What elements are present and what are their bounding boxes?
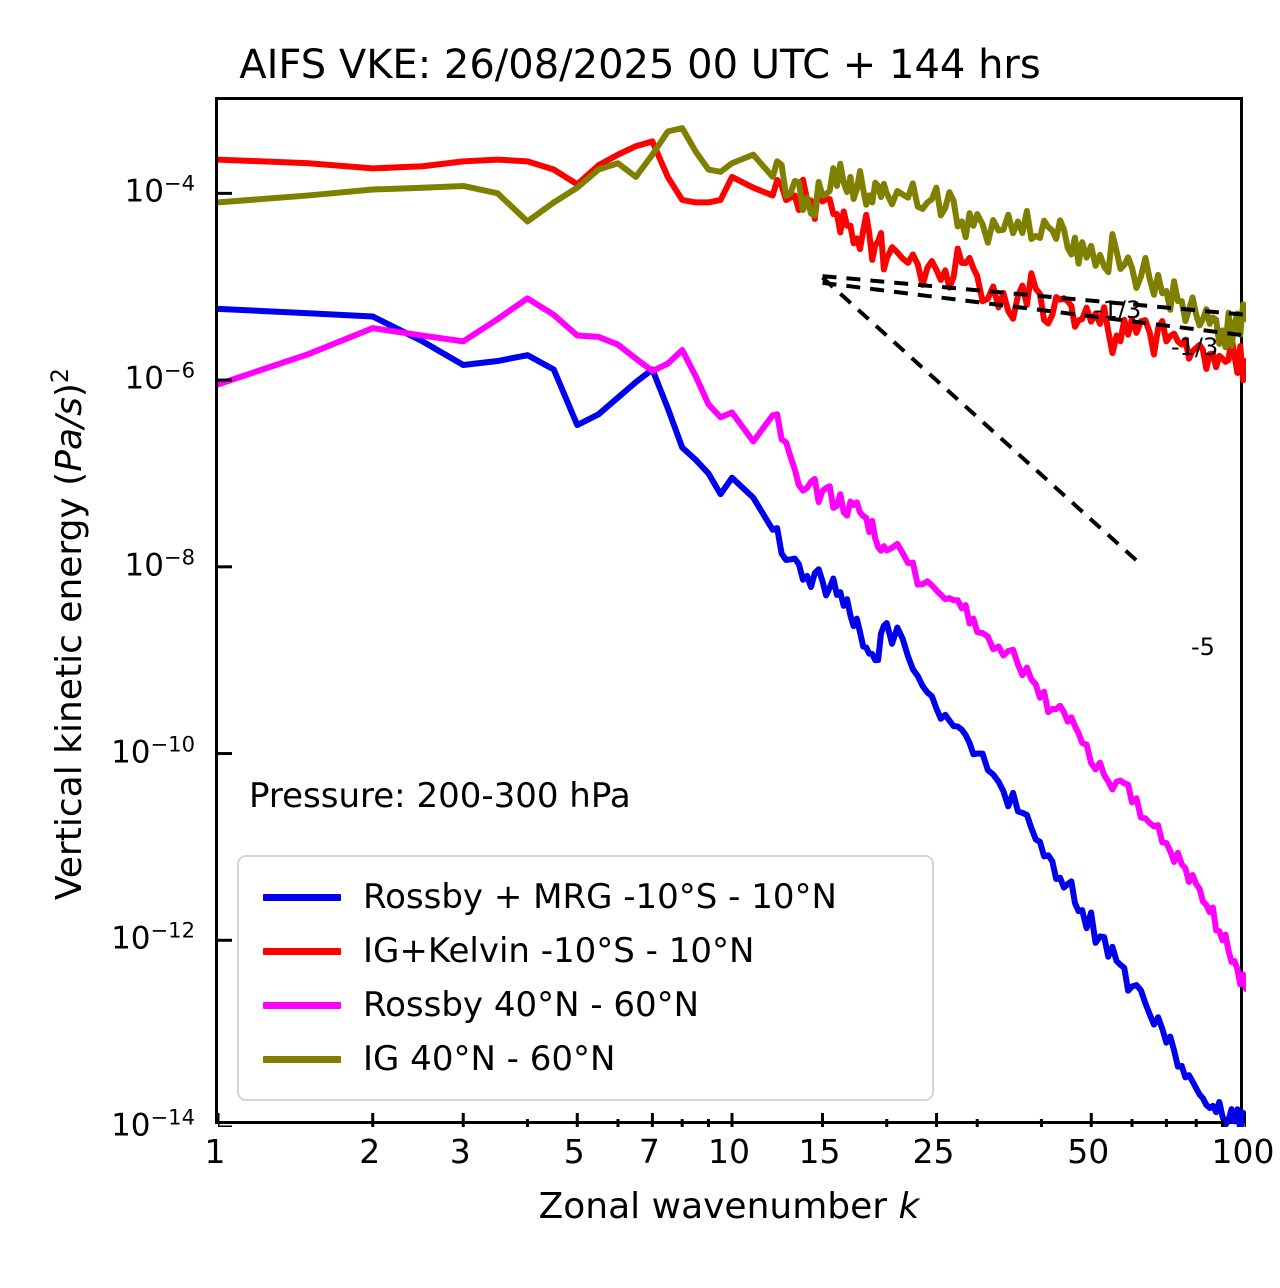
slope-label-steep: -5 — [1191, 633, 1215, 661]
y-axis-label: Vertical kinetic energy (Pa/s)2 — [46, 224, 90, 1044]
x-tick-label: 50 — [1067, 1132, 1109, 1171]
legend-label: Rossby 40°N - 60°N — [363, 988, 699, 1022]
y-tick-label: 10−12 — [111, 918, 195, 957]
x-tick-label: 10 — [708, 1132, 750, 1171]
chart-title: AIFS VKE: 26/08/2025 00 UTC + 144 hrs — [0, 42, 1280, 88]
legend-color-swatch — [263, 894, 341, 901]
legend-item[interactable]: IG 40°N - 60°N — [239, 1032, 932, 1086]
y-tick-label: 10−6 — [124, 357, 195, 396]
pressure-annotation: Pressure: 200-300 hPa — [249, 776, 631, 816]
legend-item[interactable]: Rossby + MRG -10°S - 10°N — [239, 870, 932, 924]
legend-label: IG 40°N - 60°N — [363, 1042, 615, 1076]
legend-color-swatch — [263, 1002, 341, 1009]
x-tick-label: 3 — [450, 1132, 471, 1171]
y-tick-label: 10−4 — [124, 171, 195, 210]
slope-label-lower: -1/3 — [1171, 333, 1218, 361]
legend-item[interactable]: Rossby 40°N - 60°N — [239, 978, 932, 1032]
slope-label-upper: -1/3 — [1094, 296, 1141, 324]
x-tick-label: 7 — [639, 1132, 660, 1171]
y-tick-label: 10−14 — [111, 1104, 195, 1143]
x-tick-label: 15 — [799, 1132, 841, 1171]
legend-color-swatch — [263, 1056, 341, 1063]
legend-label: IG+Kelvin -10°S - 10°N — [363, 934, 754, 968]
chart-figure: AIFS VKE: 26/08/2025 00 UTC + 144 hrs Ve… — [0, 0, 1280, 1288]
x-tick-label: 100 — [1212, 1132, 1275, 1171]
x-tick-label: 25 — [913, 1132, 955, 1171]
legend-color-swatch — [263, 948, 341, 955]
x-axis-label: Zonal wavenumber k — [215, 1186, 1243, 1227]
y-tick-label: 10−8 — [124, 544, 195, 583]
x-tick-label: 1 — [205, 1132, 226, 1171]
x-tick-label: 2 — [359, 1132, 380, 1171]
x-tick-label: 5 — [564, 1132, 585, 1171]
legend-item[interactable]: IG+Kelvin -10°S - 10°N — [239, 924, 932, 978]
y-tick-label: 10−10 — [111, 731, 195, 770]
legend: Rossby + MRG -10°S - 10°NIG+Kelvin -10°S… — [237, 855, 934, 1101]
legend-label: Rossby + MRG -10°S - 10°N — [363, 880, 837, 914]
